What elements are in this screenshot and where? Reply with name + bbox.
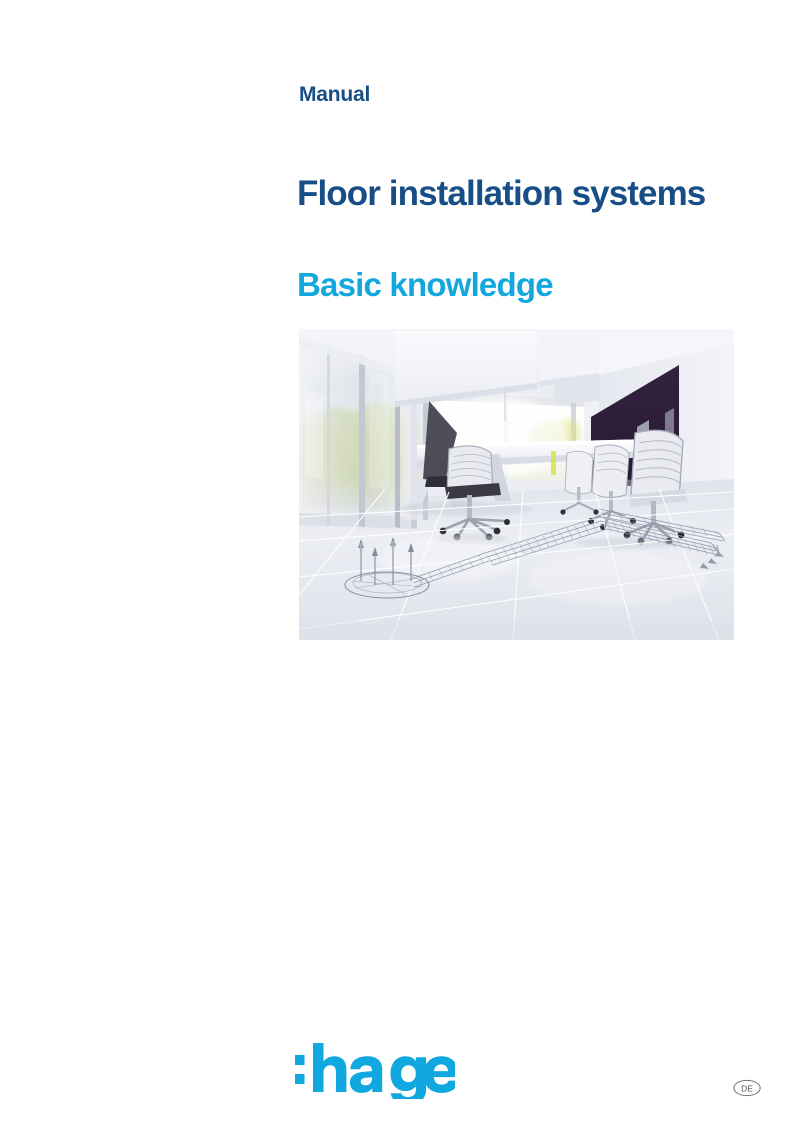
page-title: Floor installation systems (297, 176, 705, 211)
floor-reflection-right (529, 553, 709, 605)
page-canvas: Manual Floor installation systems Basic … (0, 0, 802, 1134)
page-subtitle: Basic knowledge (297, 268, 553, 301)
document-kicker: Manual (299, 84, 370, 105)
office-room-illustration (299, 329, 734, 640)
hager-logo-mark (293, 1041, 455, 1099)
logo-colon-lower-dot (295, 1074, 305, 1084)
floor-foreground-fade (299, 621, 734, 640)
badge-label: DE (741, 1083, 753, 1093)
language-badge-de: DE (732, 1079, 762, 1097)
language-badge: DE (732, 1079, 762, 1097)
cover-photo (299, 329, 734, 640)
logo-colon-upper-dot (295, 1055, 305, 1065)
floor-reflection (379, 537, 519, 581)
hager-logo (293, 1041, 455, 1099)
